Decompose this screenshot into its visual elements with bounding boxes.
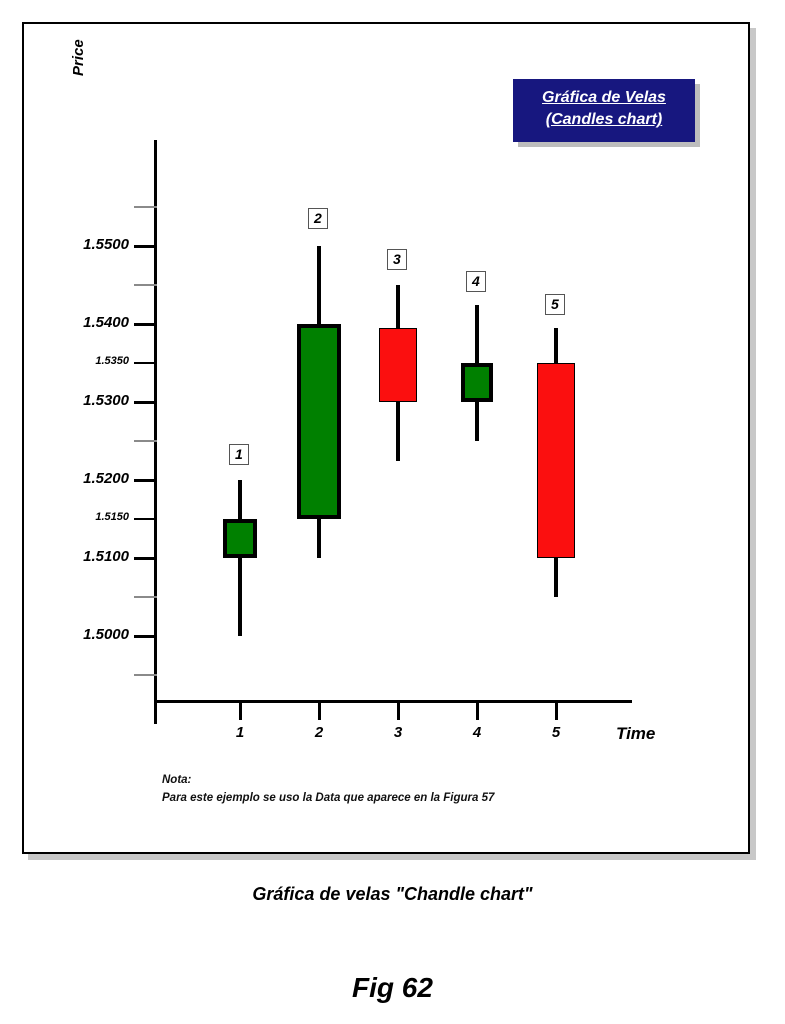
y-tick-mark xyxy=(134,596,157,598)
candle-tag-2: 2 xyxy=(308,208,328,229)
y-tick-mark xyxy=(134,479,157,482)
y-tick-mark xyxy=(134,401,157,404)
y-tick-mark xyxy=(134,557,157,560)
y-tick-label: 1.5400 xyxy=(83,314,129,331)
x-tick-label: 2 xyxy=(299,724,339,741)
x-tick-label: 4 xyxy=(457,724,497,741)
x-axis-line xyxy=(154,700,632,703)
figure-caption: Gráfica de velas "Chandle chart" xyxy=(0,884,785,905)
y-tick-label: 1.5300 xyxy=(83,392,129,409)
y-tick-mark xyxy=(134,518,157,520)
y-tick-mark xyxy=(134,284,157,286)
y-tick-label: 1.5200 xyxy=(83,470,129,487)
x-tick-label: 1 xyxy=(220,724,260,741)
y-tick-mark xyxy=(134,674,157,676)
chart-title-line2: (Candles chart) xyxy=(519,109,689,131)
y-tick-label: 1.5000 xyxy=(83,626,129,643)
note-heading: Nota: xyxy=(162,772,494,790)
candle-tag-4: 4 xyxy=(466,271,486,292)
y-tick-label: 1.5100 xyxy=(83,548,129,565)
chart-title-line1: Gráfica de Velas xyxy=(519,87,689,109)
candle-wick xyxy=(238,480,242,636)
x-tick-label: 5 xyxy=(536,724,576,741)
y-tick-mark xyxy=(134,245,157,248)
y-tick-mark xyxy=(134,206,157,208)
candle-body xyxy=(537,363,575,558)
y-tick-mark xyxy=(134,440,157,442)
x-tick-mark xyxy=(397,703,400,720)
x-tick-mark xyxy=(239,703,242,720)
candle-tag-5: 5 xyxy=(545,294,565,315)
candle-tag-1: 1 xyxy=(229,444,249,465)
note-body: Para este ejemplo se uso la Data que apa… xyxy=(162,790,494,808)
x-tick-mark xyxy=(318,703,321,720)
candle-body xyxy=(379,328,417,402)
note-block: Nota: Para este ejemplo se uso la Data q… xyxy=(162,772,494,808)
y-tick-label: 1.5350 xyxy=(95,355,129,367)
x-tick-mark xyxy=(555,703,558,720)
candle-body xyxy=(223,519,257,558)
figure-frame: Price Time 1.55001.54001.53001.52001.510… xyxy=(22,22,750,854)
candlestick-plot: Price Time 1.55001.54001.53001.52001.510… xyxy=(24,24,752,856)
x-tick-label: 3 xyxy=(378,724,418,741)
candle-body xyxy=(461,363,493,402)
y-tick-mark xyxy=(134,362,157,364)
y-tick-label: 1.5500 xyxy=(83,236,129,253)
chart-title-plate: Gráfica de Velas (Candles chart) xyxy=(513,79,695,142)
candle-body xyxy=(297,324,341,519)
candle-tag-3: 3 xyxy=(387,249,407,270)
y-tick-mark xyxy=(134,635,157,638)
figure-number: Fig 62 xyxy=(0,972,785,1004)
y-tick-mark xyxy=(134,323,157,326)
y-tick-label: 1.5150 xyxy=(95,511,129,523)
y-axis-title: Price xyxy=(70,39,87,76)
x-axis-title: Time xyxy=(616,724,655,744)
x-tick-mark xyxy=(476,703,479,720)
